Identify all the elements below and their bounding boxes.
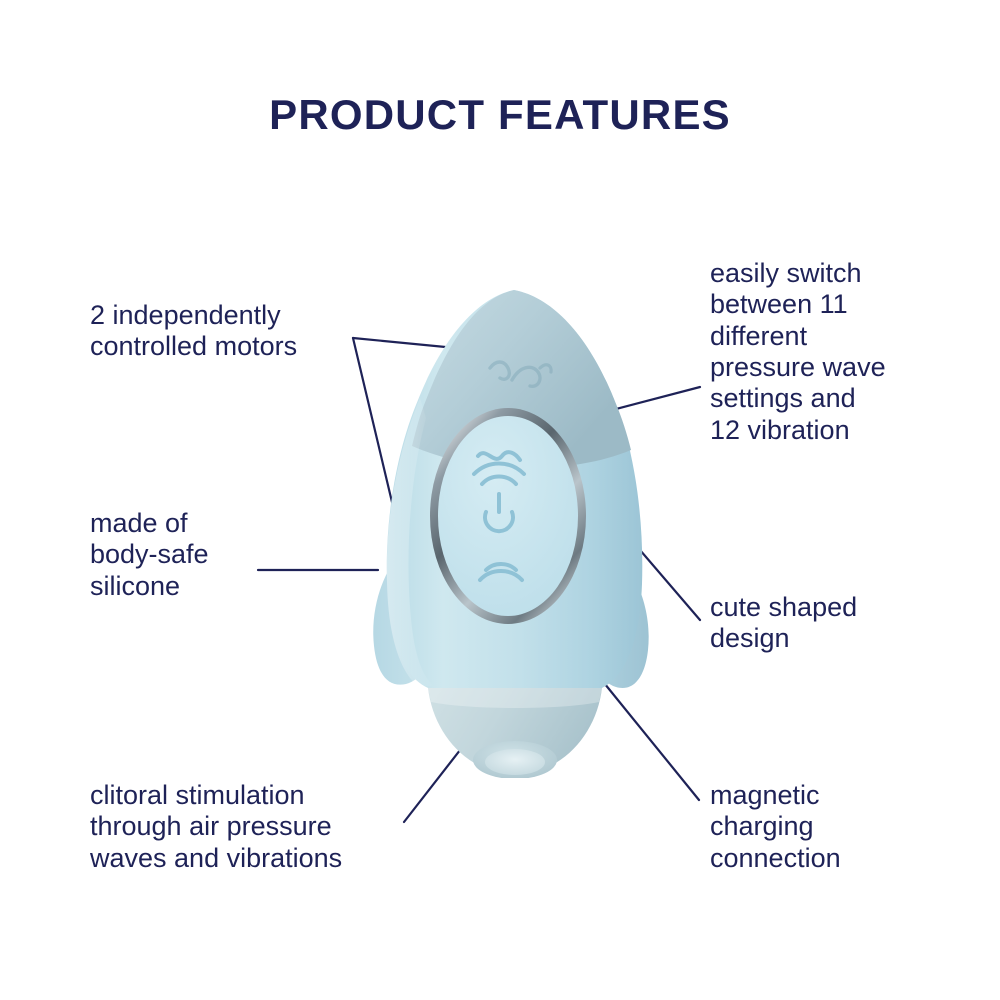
control-panel[interactable] xyxy=(438,416,578,616)
air-pulse-nozzle[interactable] xyxy=(485,749,545,775)
base-seam xyxy=(428,688,602,708)
callout-cute-design: cute shaped design xyxy=(710,592,940,655)
infographic-canvas: PRODUCT FEATURES xyxy=(0,0,1000,1000)
callout-silicone: made of body-safe silicone xyxy=(90,508,320,602)
callout-clitoral-stimulation: clitoral stimulation through air pressur… xyxy=(90,780,430,874)
callout-settings: easily switch between 11 different press… xyxy=(710,258,970,446)
callout-motors: 2 independently controlled motors xyxy=(90,300,390,363)
callout-magnetic-charging: magnetic charging connection xyxy=(710,780,950,874)
